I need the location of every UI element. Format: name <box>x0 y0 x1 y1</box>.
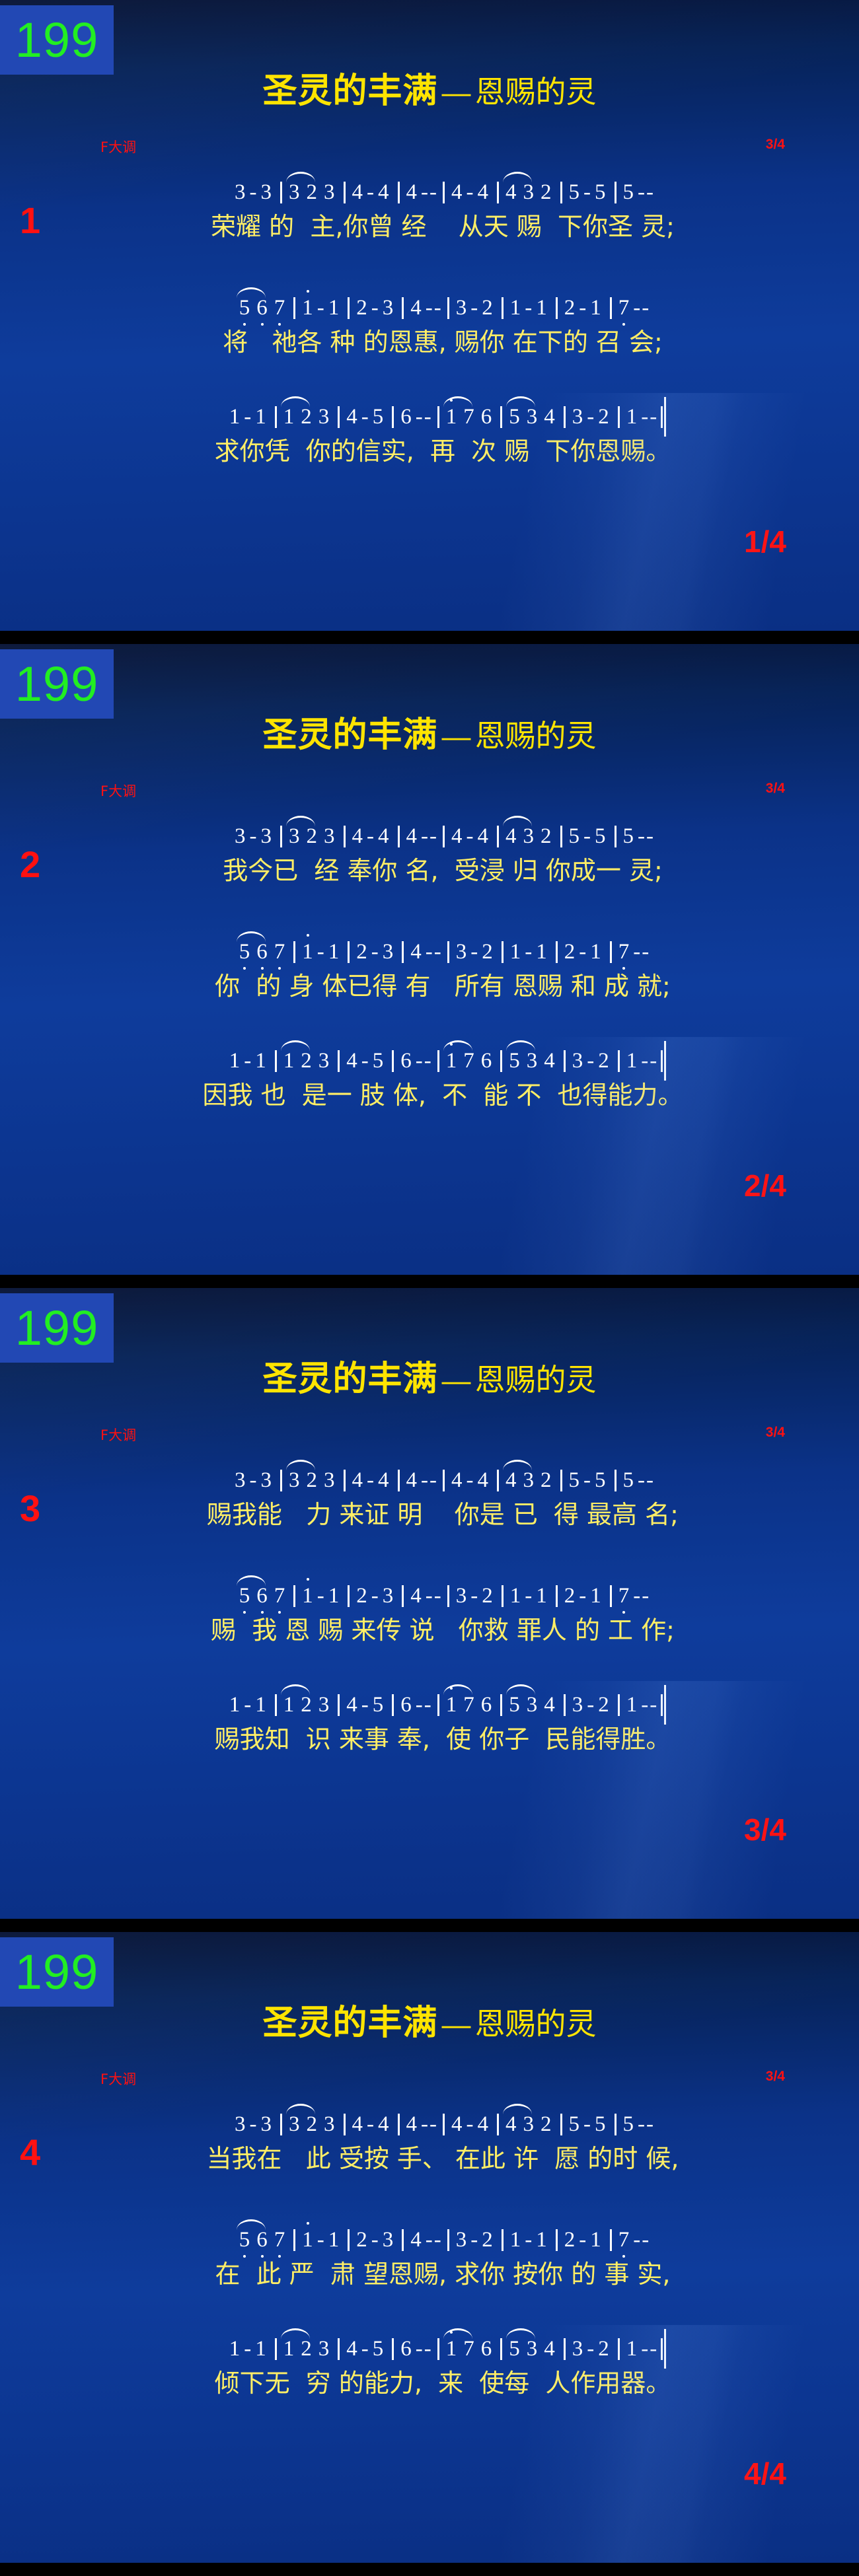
note-dash: - <box>317 941 325 963</box>
lyrics-row-1: 2我今已 经 奉你 名, 受浸 归 你成一 灵; <box>0 849 859 887</box>
lyrics-row-2: 你 的 身 体已得 有 所有 恩赐 和 成 就; <box>0 964 859 1003</box>
note-dash: - <box>433 2229 442 2251</box>
note-dash: - <box>649 1050 657 1072</box>
note-numeral: 1 <box>280 1050 298 1072</box>
measure: 7-- <box>610 941 654 963</box>
note-numeral: 5 <box>620 1470 638 1491</box>
note-dash: - <box>586 2338 595 2360</box>
note-dash: - <box>420 2114 429 2135</box>
note-numeral: 3 <box>315 2338 333 2360</box>
note-numeral: 5 <box>369 1694 387 1716</box>
measure: 4-- <box>398 2114 441 2135</box>
note-dash: - <box>317 297 325 319</box>
note-numeral: 3 <box>320 182 338 203</box>
measure: 4-- <box>402 2229 445 2251</box>
note-dash: - <box>632 1585 641 1607</box>
measure: 123 <box>275 1694 336 1716</box>
note-numeral: 2 <box>297 1694 315 1716</box>
note-numeral: 2 <box>353 1585 371 1607</box>
note-dash: - <box>632 2229 641 2251</box>
note-numeral: 1 <box>226 1050 244 1072</box>
note-numeral: 4 <box>343 2338 361 2360</box>
note-dash: - <box>425 941 433 963</box>
measure: 5-5 <box>560 826 613 847</box>
notation-row: 1-11234-56--1765343-21-- <box>0 1686 859 1716</box>
measure: 534 <box>500 406 562 428</box>
note-numeral: 1 <box>252 1050 270 1072</box>
note-dash: - <box>586 1694 595 1716</box>
measure: 567 <box>233 2229 292 2251</box>
measure: 7-- <box>610 2229 654 2251</box>
note-dash: - <box>637 826 646 847</box>
measure: 4-4 <box>344 826 396 847</box>
note-numeral: 3 <box>315 406 333 428</box>
time-signature: 3/4 <box>766 2069 785 2085</box>
note-numeral: 5 <box>591 2114 609 2135</box>
music-staff-line-1: 3-33234-44--4-44325-55-- <box>0 2105 859 2135</box>
note-numeral: 3 <box>379 941 397 963</box>
title-subtitle-text: 恩赐的灵 <box>475 718 597 754</box>
note-dash: - <box>646 182 654 203</box>
measure: 2-1 <box>556 1585 608 1607</box>
note-dash: - <box>420 1470 429 1491</box>
note-numeral: 2 <box>478 1585 496 1607</box>
note-numeral: 2 <box>595 406 613 428</box>
note-dash: - <box>249 826 258 847</box>
note-numeral: 2 <box>561 1585 579 1607</box>
signature-row: F大调3/4 <box>0 781 859 801</box>
note-numeral: 1 <box>623 406 641 428</box>
measure: 1-- <box>618 1694 663 1716</box>
note-numeral: 4 <box>448 1470 466 1491</box>
measure: 1-- <box>618 406 663 428</box>
note-numeral: 1 <box>587 297 605 319</box>
note-numeral: 2 <box>595 1694 613 1716</box>
measure: 4-5 <box>338 1050 390 1072</box>
note-numeral: 2 <box>297 2338 315 2360</box>
note-numeral: 7 <box>460 1694 478 1716</box>
note-numeral: 4 <box>448 182 466 203</box>
measure: 567 <box>233 297 292 319</box>
note-numeral: 1 <box>533 297 550 319</box>
measure: 1-1 <box>223 2338 273 2360</box>
note-numeral: 5 <box>505 406 523 428</box>
note-numeral: 1 <box>623 2338 641 2360</box>
verse-number: 2 <box>20 846 40 883</box>
measure: 534 <box>500 1694 562 1716</box>
note-numeral: 3 <box>379 2229 397 2251</box>
note-dash: - <box>249 182 258 203</box>
note-numeral: 4 <box>502 1470 520 1491</box>
note-dash: - <box>646 826 654 847</box>
hymn-number: 199 <box>15 1948 98 1997</box>
title-separator: — <box>438 1365 475 1397</box>
note-dash: - <box>583 182 591 203</box>
note-numeral: 1 <box>533 1585 550 1607</box>
note-dash: - <box>429 1470 437 1491</box>
note-numeral: 5 <box>566 826 583 847</box>
measure: 4-5 <box>338 406 390 428</box>
note-numeral: 3 <box>453 941 470 963</box>
hymn-slide-3: 199圣灵的丰满—恩赐的灵F大调3/43-33234-44--4-44325-5… <box>0 1288 859 1919</box>
note-dash: - <box>361 1050 369 1072</box>
note-dash: - <box>415 1050 424 1072</box>
note-numeral: 4 <box>343 1694 361 1716</box>
note-numeral: 5 <box>505 1694 523 1716</box>
hymn-number: 199 <box>15 660 98 709</box>
note-dash: - <box>641 2229 650 2251</box>
verse-number: 3 <box>20 1490 40 1527</box>
note-numeral: 5 <box>369 2338 387 2360</box>
note-numeral: 2 <box>303 1470 321 1491</box>
note-dash: - <box>641 297 650 319</box>
lyrics-row-1: 3赐我能 力 来证 明 你是 已 得 最高 名; <box>0 1493 859 1531</box>
measure: 1-1 <box>293 2229 346 2251</box>
title-main-text: 圣灵的丰满 <box>262 1359 437 1399</box>
note-dash: - <box>366 2114 375 2135</box>
measure: 5-5 <box>560 2114 613 2135</box>
note-dash: - <box>649 406 657 428</box>
note-numeral: 3 <box>523 1050 541 1072</box>
measure: 5-- <box>615 826 658 847</box>
note-numeral: 3 <box>520 182 538 203</box>
note-numeral: 1 <box>226 1694 244 1716</box>
note-numeral: 3 <box>320 1470 338 1491</box>
signature-row: F大调3/4 <box>0 1425 859 1445</box>
note-numeral: 5 <box>236 1585 254 1607</box>
note-numeral: 4 <box>541 2338 558 2360</box>
note-numeral: 2 <box>537 826 555 847</box>
note-numeral: 6 <box>253 1585 271 1607</box>
note-numeral: 1 <box>226 406 244 428</box>
measure: 5-5 <box>560 182 613 203</box>
note-numeral: 6 <box>253 2229 271 2251</box>
measure: 4-- <box>398 182 441 203</box>
note-numeral: 6 <box>397 406 415 428</box>
measure: 4-5 <box>338 1694 390 1716</box>
measure: 4-- <box>402 1585 445 1607</box>
note-numeral: 1 <box>325 2229 343 2251</box>
note-dash: - <box>470 2229 478 2251</box>
hymn-number: 199 <box>15 1304 98 1353</box>
note-numeral: 4 <box>407 941 425 963</box>
measure: 567 <box>233 941 292 963</box>
title-main-text: 圣灵的丰满 <box>262 715 437 755</box>
page-title: 圣灵的丰满—恩赐的灵 <box>0 63 859 112</box>
note-numeral: 4 <box>375 826 392 847</box>
note-numeral: 4 <box>541 1694 558 1716</box>
lyrics-text: 荣耀 的 主,你曾 经 从天 赐 下你圣 灵; <box>184 206 675 242</box>
note-numeral: 3 <box>520 826 538 847</box>
measure: 1-1 <box>223 406 273 428</box>
note-numeral: 1 <box>587 2229 605 2251</box>
note-numeral: 4 <box>343 1050 361 1072</box>
note-numeral: 5 <box>369 406 387 428</box>
note-dash: - <box>366 1470 375 1491</box>
measure: 4-4 <box>344 2114 396 2135</box>
measure: 4-4 <box>344 1470 396 1491</box>
lyrics-text: 你 的 身 体已得 有 所有 恩赐 和 成 就; <box>188 966 671 1002</box>
measure: 534 <box>500 2338 562 2360</box>
octave-dot-high <box>307 934 309 937</box>
note-numeral: 7 <box>615 941 633 963</box>
lyrics-row-3: 赐我知 识 来事 奉, 使 你子 民能得胜。 <box>0 1717 859 1756</box>
note-numeral: 3 <box>569 1694 587 1716</box>
measure: 4-4 <box>344 182 396 203</box>
note-numeral: 5 <box>566 2114 583 2135</box>
note-dash: - <box>466 1470 474 1491</box>
measure: 1-- <box>618 2338 663 2360</box>
note-numeral: 4 <box>502 826 520 847</box>
notation-row: 3-33234-44--4-44325-55-- <box>0 2105 859 2135</box>
note-numeral: 3 <box>379 1585 397 1607</box>
note-dash: - <box>578 2229 587 2251</box>
octave-dot-high <box>307 1578 309 1581</box>
measure: 5-- <box>615 2114 658 2135</box>
measure: 6-- <box>392 406 435 428</box>
note-numeral: 2 <box>561 2229 579 2251</box>
note-dash: - <box>425 297 433 319</box>
note-dash: - <box>646 1470 654 1491</box>
note-dash: - <box>361 1694 369 1716</box>
note-dash: - <box>586 406 595 428</box>
note-numeral: 4 <box>407 2229 425 2251</box>
note-numeral: 1 <box>507 1585 525 1607</box>
note-numeral: 7 <box>271 941 289 963</box>
measure: 2-3 <box>348 1585 400 1607</box>
note-dash: - <box>433 1585 442 1607</box>
note-dash: - <box>249 1470 258 1491</box>
note-numeral: 1 <box>325 941 343 963</box>
note-numeral: 1 <box>533 2229 550 2251</box>
measure: 2-1 <box>556 2229 608 2251</box>
note-dash: - <box>429 826 437 847</box>
measure: 323 <box>280 1470 342 1491</box>
note-dash: - <box>466 2114 474 2135</box>
lyrics-text: 赐我知 识 来事 奉, 使 你子 民能得胜。 <box>188 1719 671 1755</box>
note-dash: - <box>425 2229 433 2251</box>
note-numeral: 6 <box>478 406 496 428</box>
measure: 4-5 <box>338 2338 390 2360</box>
note-numeral: 2 <box>478 2229 496 2251</box>
measure: 3-2 <box>447 941 500 963</box>
measure: 5-- <box>615 182 658 203</box>
note-numeral: 4 <box>474 2114 492 2135</box>
lyrics-text: 当我在 此 受按 手、 在此 许 愿 的时 候, <box>180 2138 679 2174</box>
note-numeral: 1 <box>280 1694 298 1716</box>
note-dash: - <box>415 2338 424 2360</box>
note-dash: - <box>424 406 432 428</box>
measure: 123 <box>275 2338 336 2360</box>
measure: 4-4 <box>443 182 495 203</box>
measure: 432 <box>497 182 558 203</box>
note-numeral: 3 <box>258 1470 276 1491</box>
note-numeral: 7 <box>271 297 289 319</box>
title-main-text: 圣灵的丰满 <box>262 71 437 111</box>
note-numeral: 5 <box>566 1470 583 1491</box>
notation-row: 1-11234-56--1765343-21-- <box>0 2330 859 2360</box>
page-title: 圣灵的丰满—恩赐的灵 <box>0 707 859 756</box>
note-numeral: 3 <box>285 182 303 203</box>
measure: 323 <box>280 182 342 203</box>
note-numeral: 3 <box>523 406 541 428</box>
note-numeral: 5 <box>591 826 609 847</box>
time-signature: 3/4 <box>766 1425 785 1441</box>
note-numeral: 2 <box>478 297 496 319</box>
measure: 6-- <box>392 2338 435 2360</box>
lyrics-row-2: 在 此 严 肃 望恩赐, 求你 按你 的 事 实, <box>0 2252 859 2291</box>
measure: 176 <box>437 406 499 428</box>
note-dash: - <box>583 2114 591 2135</box>
note-dash: - <box>420 182 429 203</box>
time-signature: 3/4 <box>766 781 785 797</box>
note-numeral: 3 <box>320 2114 338 2135</box>
notation-row: 3-33234-44--4-44325-55-- <box>0 817 859 847</box>
note-numeral: 4 <box>349 826 367 847</box>
note-dash: - <box>578 1585 587 1607</box>
note-numeral: 5 <box>505 2338 523 2360</box>
measure: 1-1 <box>502 941 554 963</box>
measure: 3-2 <box>447 297 500 319</box>
measure: 4-4 <box>443 1470 495 1491</box>
octave-dot-high <box>450 1687 453 1690</box>
note-numeral: 3 <box>453 297 470 319</box>
note-numeral: 5 <box>591 182 609 203</box>
measure: 3-3 <box>228 2114 278 2135</box>
measure: 176 <box>437 1694 499 1716</box>
note-numeral: 4 <box>403 826 421 847</box>
note-dash: - <box>424 1050 432 1072</box>
note-dash: - <box>640 406 649 428</box>
title-subtitle-text: 恩赐的灵 <box>475 74 597 110</box>
note-numeral: 2 <box>595 1050 613 1072</box>
measure: 1-1 <box>223 1050 273 1072</box>
note-dash: - <box>637 1470 646 1491</box>
note-dash: - <box>640 2338 649 2360</box>
note-numeral: 2 <box>297 1050 315 1072</box>
key-signature: F大调 <box>100 1425 136 1445</box>
note-numeral: 3 <box>453 2229 470 2251</box>
note-dash: - <box>371 2229 379 2251</box>
note-numeral: 1 <box>226 2338 244 2360</box>
measure: 432 <box>497 826 558 847</box>
lyrics-row-1: 1荣耀 的 主,你曾 经 从天 赐 下你圣 灵; <box>0 205 859 243</box>
page-indicator: 1/4 <box>744 526 786 557</box>
note-numeral: 6 <box>253 941 271 963</box>
note-dash: - <box>586 1050 595 1072</box>
note-numeral: 4 <box>349 182 367 203</box>
note-numeral: 1 <box>623 1694 641 1716</box>
note-numeral: 4 <box>349 2114 367 2135</box>
music-staff-line-1: 3-33234-44--4-44325-55-- <box>0 1461 859 1491</box>
music-staff-line-1: 3-33234-44--4-44325-55-- <box>0 173 859 203</box>
note-dash: - <box>466 826 474 847</box>
note-numeral: 4 <box>541 1050 558 1072</box>
note-numeral: 1 <box>325 297 343 319</box>
note-numeral: 3 <box>320 826 338 847</box>
measure: 6-- <box>392 1050 435 1072</box>
note-numeral: 5 <box>236 297 254 319</box>
note-numeral: 3 <box>523 2338 541 2360</box>
note-dash: - <box>470 297 478 319</box>
note-dash: - <box>640 1694 649 1716</box>
note-numeral: 1 <box>443 1050 461 1072</box>
measure: 2-3 <box>348 297 400 319</box>
note-numeral: 1 <box>507 297 525 319</box>
note-dash: - <box>640 1050 649 1072</box>
verse-number: 1 <box>20 202 40 239</box>
note-numeral: 1 <box>299 2229 317 2251</box>
notation-row: 5671-12-34--3-21-12-17-- <box>0 289 859 319</box>
music-staff-line-3: 1-11234-56--1765343-21-- <box>0 398 859 428</box>
note-numeral: 5 <box>236 2229 254 2251</box>
note-numeral: 4 <box>474 1470 492 1491</box>
note-numeral: 2 <box>303 826 321 847</box>
note-dash: - <box>470 1585 478 1607</box>
note-numeral: 3 <box>258 2114 276 2135</box>
note-numeral: 3 <box>231 2114 249 2135</box>
note-numeral: 2 <box>478 941 496 963</box>
lyrics-row-2: 将 祂各 种 的恩惠, 赐你 在下的 召 会; <box>0 320 859 359</box>
lyrics-text: 我今已 经 奉你 名, 受浸 归 你成一 灵; <box>196 850 663 886</box>
notation-row: 5671-12-34--3-21-12-17-- <box>0 933 859 963</box>
note-numeral: 3 <box>379 297 397 319</box>
hymn-slide-1: 199圣灵的丰满—恩赐的灵F大调3/43-33234-44--4-44325-5… <box>0 0 859 631</box>
note-dash: - <box>371 1585 379 1607</box>
lyrics-text: 赐我能 力 来证 明 你是 已 得 最高 名; <box>180 1494 679 1530</box>
measure: 3-2 <box>564 1050 616 1072</box>
note-dash: - <box>524 1585 533 1607</box>
page-title: 圣灵的丰满—恩赐的灵 <box>0 1995 859 2044</box>
lyrics-row-3: 倾下无 穷 的能力, 来 使每 人作用器。 <box>0 2361 859 2400</box>
note-dash: - <box>524 941 533 963</box>
lyrics-row-3: 因我 也 是一 肢 体, 不 能 不 也得能力。 <box>0 1073 859 1112</box>
note-numeral: 4 <box>541 406 558 428</box>
measure: 1-1 <box>502 1585 554 1607</box>
octave-dot-high <box>307 290 309 293</box>
note-numeral: 4 <box>448 826 466 847</box>
measure: 7-- <box>610 297 654 319</box>
note-numeral: 1 <box>443 2338 461 2360</box>
measure: 432 <box>497 2114 558 2135</box>
lyrics-text: 因我 也 是一 肢 体, 不 能 不 也得能力。 <box>176 1075 683 1111</box>
note-numeral: 2 <box>303 182 321 203</box>
signature-row: F大调3/4 <box>0 2069 859 2089</box>
note-numeral: 4 <box>349 1470 367 1491</box>
measure: 3-3 <box>228 826 278 847</box>
note-numeral: 2 <box>537 2114 555 2135</box>
octave-dot-high <box>450 1043 453 1046</box>
note-numeral: 4 <box>343 406 361 428</box>
measure: 1-1 <box>502 2229 554 2251</box>
note-numeral: 6 <box>478 1694 496 1716</box>
music-staff-line-2: 5671-12-34--3-21-12-17-- <box>0 2221 859 2251</box>
measure: 2-1 <box>556 297 608 319</box>
lyrics-row-2: 赐 我 恩 赐 来传 说 你救 罪人 的 工 作; <box>0 1608 859 1647</box>
note-numeral: 3 <box>520 1470 538 1491</box>
note-dash: - <box>415 406 424 428</box>
note-dash: - <box>433 941 442 963</box>
note-numeral: 5 <box>591 1470 609 1491</box>
note-numeral: 3 <box>285 826 303 847</box>
note-dash: - <box>524 297 533 319</box>
note-dash: - <box>361 406 369 428</box>
note-numeral: 1 <box>252 1694 270 1716</box>
note-dash: - <box>366 826 375 847</box>
measure: 534 <box>500 1050 562 1072</box>
measure: 567 <box>233 1585 292 1607</box>
note-dash: - <box>366 182 375 203</box>
